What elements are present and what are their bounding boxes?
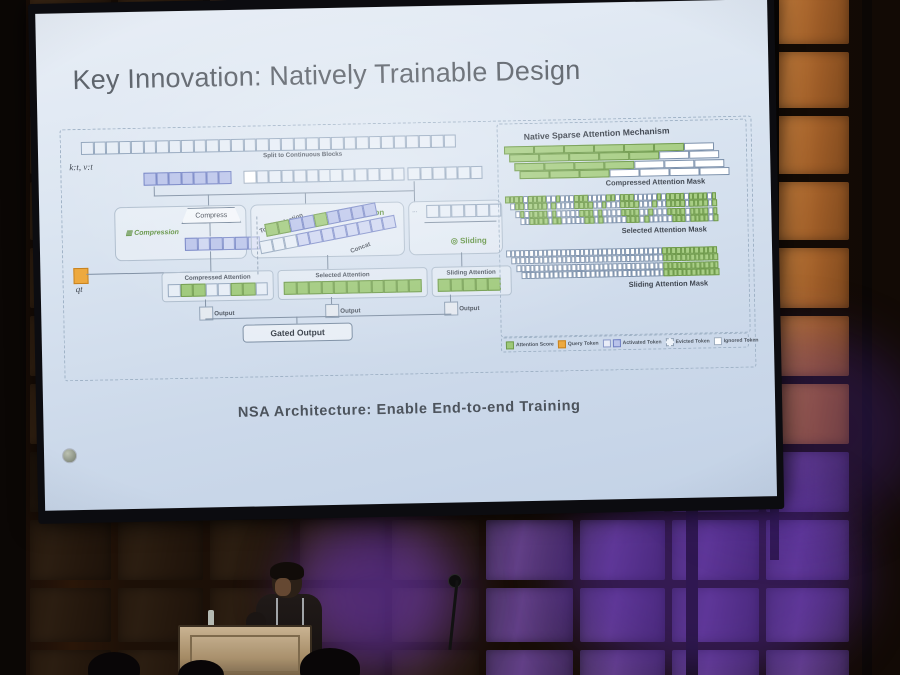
token-cell <box>156 172 169 185</box>
compressed-attention-row <box>168 282 268 297</box>
mask-cell <box>669 168 699 177</box>
block-2 <box>243 169 331 184</box>
token-cell <box>296 281 309 294</box>
wall-mullion <box>862 0 872 675</box>
projection-screen: Key Innovation: Natively Trainable Desig… <box>35 0 777 511</box>
token-cell <box>218 139 231 152</box>
mask-cell <box>713 214 718 221</box>
nsa-pipeline-diagram: Split to Continuous Blocks k:t, v:t <box>67 126 492 374</box>
output-label-selected: Output <box>340 307 360 314</box>
connector-out2 <box>331 297 332 304</box>
compress-op: Compress <box>181 207 241 224</box>
mask-cell <box>689 151 719 160</box>
token-cell <box>367 168 380 181</box>
mask-cell <box>713 254 718 261</box>
token-cell <box>185 238 198 251</box>
wall-panel <box>766 650 849 675</box>
token-cell <box>81 142 94 155</box>
token-cell <box>230 283 243 296</box>
mask-cell <box>514 162 544 171</box>
output-label-sliding: Output <box>459 305 479 312</box>
token-cell <box>143 172 156 185</box>
token-cell <box>193 171 206 184</box>
token-cell <box>306 137 319 150</box>
token-cell <box>381 136 394 149</box>
compression-icon: ▥ <box>126 230 135 237</box>
wall-panel <box>486 588 573 642</box>
presentation-slide: Key Innovation: Natively Trainable Desig… <box>35 0 777 511</box>
token-cell <box>362 202 377 217</box>
compression-branch-label: ▥ Compression <box>126 228 179 237</box>
legend-item: Ignored Token <box>714 336 759 345</box>
token-cell <box>406 135 419 148</box>
token-cell <box>381 215 396 230</box>
mask-cell <box>654 143 684 152</box>
sliding-window-row <box>426 204 501 219</box>
token-cell <box>409 279 422 292</box>
token-cell <box>438 279 451 292</box>
token-cell <box>281 170 294 183</box>
token-cell <box>354 168 367 181</box>
mask-cell <box>509 154 539 163</box>
token-cell <box>470 166 483 179</box>
slide-title: Key Innovation: Natively Trainable Desig… <box>72 55 581 96</box>
token-cell <box>256 170 269 183</box>
wall-mullion <box>0 0 26 675</box>
token-cell <box>431 135 444 148</box>
token-cell <box>309 281 322 294</box>
legend-item: Query Token <box>558 339 599 348</box>
right-panel-title: Native Sparse Attention Mechanism <box>524 125 670 141</box>
compressed-mask-label: Compressed Attention Mask <box>606 176 706 187</box>
mask-cell <box>713 246 718 253</box>
query-token-label: qt <box>76 284 83 294</box>
split-blocks-label: Split to Continuous Blocks <box>263 151 342 160</box>
wall-panel <box>300 520 385 580</box>
token-cell <box>181 140 194 153</box>
logo-watermark-icon <box>62 448 77 463</box>
token-cell <box>193 284 206 297</box>
mask-cell <box>712 200 717 207</box>
token-cell <box>407 167 420 180</box>
block-4 <box>407 166 482 181</box>
token-cell <box>488 278 501 291</box>
photo-scene: Key Innovation: Natively Trainable Desig… <box>0 0 900 675</box>
token-cell <box>384 280 397 293</box>
token-cell <box>379 168 392 181</box>
sliding-window-icon: ◎ <box>451 236 460 245</box>
token-cell <box>293 137 306 150</box>
token-cell <box>284 282 297 295</box>
legend-swatch <box>558 340 566 348</box>
token-cell <box>432 167 445 180</box>
token-cell <box>181 172 194 185</box>
compressed-kv-row <box>185 236 260 251</box>
token-cell <box>281 138 294 151</box>
legend-label: Activated Token <box>623 339 662 346</box>
mask-cell <box>684 142 714 151</box>
token-cell <box>131 141 144 154</box>
mask-cell <box>549 170 579 179</box>
wall-panel <box>30 588 111 642</box>
token-cell <box>235 237 248 250</box>
token-cell <box>475 278 488 291</box>
wall-panel <box>118 520 203 580</box>
token-cell <box>168 172 181 185</box>
legend-swatch <box>714 337 722 345</box>
sliding-attention-label: Sliding Attention <box>446 269 495 277</box>
token-cell <box>306 169 319 182</box>
presenter-face <box>275 578 291 596</box>
slide-caption: NSA Architecture: Enable End-to-end Trai… <box>43 394 775 425</box>
token-cell <box>222 237 235 250</box>
mask-cell <box>564 145 594 154</box>
connector-h1 <box>154 190 414 196</box>
mask-cell <box>569 153 599 162</box>
block-3 <box>329 167 404 182</box>
token-cell <box>393 135 406 148</box>
token-cell <box>268 170 281 183</box>
token-cell <box>206 171 219 184</box>
mask-cell <box>712 192 717 199</box>
connector-out3 <box>450 295 451 302</box>
mask-cell <box>629 152 659 161</box>
compressed-attention-label: Compressed Attention <box>184 274 250 282</box>
token-cell <box>205 283 218 296</box>
mask-cell <box>604 161 634 170</box>
token-cell <box>463 278 476 291</box>
mask-cell <box>539 154 569 163</box>
token-cell <box>464 204 477 217</box>
token-cell <box>368 136 381 149</box>
mask-cell <box>594 144 624 153</box>
token-cell <box>343 136 356 149</box>
sliding-attention-row <box>438 278 501 292</box>
token-cell <box>255 282 268 295</box>
legend-label: Evicted Token <box>676 338 710 345</box>
mask-cell <box>659 151 689 160</box>
connector-sld-att <box>461 252 462 266</box>
token-cell <box>476 204 489 217</box>
token-cell <box>206 139 219 152</box>
token-cell <box>218 283 231 296</box>
attention-mask-panel: Native Sparse Attention Mechanism Compre… <box>496 119 750 338</box>
mask-cell <box>504 146 534 155</box>
mask-cell <box>609 169 639 178</box>
token-cell <box>156 140 169 153</box>
connector-gated-v <box>296 317 297 324</box>
token-cell <box>210 237 223 250</box>
legend-item: Attention Score <box>506 340 554 349</box>
token-cell <box>218 171 231 184</box>
token-cell <box>106 141 119 154</box>
mask-cell <box>664 159 694 168</box>
wall-panel <box>392 650 479 675</box>
token-cell <box>445 166 458 179</box>
mask-cell <box>639 168 669 177</box>
token-cell <box>168 284 181 297</box>
presenter-hair <box>270 562 304 580</box>
token-cell <box>346 280 359 293</box>
token-cell <box>231 139 244 152</box>
legend-label: Ignored Token <box>724 337 759 344</box>
token-cell <box>168 140 181 153</box>
token-cell <box>197 237 210 250</box>
token-cell <box>243 138 256 151</box>
figure-container: Split to Continuous Blocks k:t, v:t <box>60 116 757 382</box>
token-cell <box>443 134 456 147</box>
legend-swatch <box>506 341 514 349</box>
token-cell <box>418 135 431 148</box>
wall-panel <box>580 520 665 580</box>
token-cell <box>371 280 384 293</box>
connector-v-slide <box>414 181 415 202</box>
token-cell <box>396 279 409 292</box>
sliding-ellipsis: ⋯ <box>412 209 417 215</box>
token-cell <box>334 281 347 294</box>
token-cell <box>356 136 369 149</box>
token-cell <box>256 138 269 151</box>
legend-item: Evicted Token <box>665 337 709 346</box>
mask-cell <box>634 160 664 169</box>
token-cell <box>93 141 106 154</box>
legend-swatch <box>603 339 611 347</box>
legend-label: Query Token <box>568 340 599 347</box>
wall-panel <box>486 520 573 580</box>
wall-panel <box>392 588 479 642</box>
query-token <box>73 268 88 284</box>
token-cell <box>426 205 439 218</box>
token-cell <box>193 139 206 152</box>
token-cell <box>450 278 463 291</box>
token-cell <box>268 138 281 151</box>
token-cell <box>143 140 156 153</box>
token-cell <box>451 204 464 217</box>
legend-item: Activated Token <box>603 338 662 347</box>
selected-attention-label: Selected Attention <box>315 271 369 279</box>
mask-cell <box>714 268 719 275</box>
mask-cell <box>599 152 629 161</box>
mask-cell <box>534 145 564 154</box>
mask-cell <box>624 143 654 152</box>
selected-attention-row <box>284 279 422 295</box>
mask-cell <box>544 162 574 171</box>
token-cell <box>329 169 342 182</box>
token-cell <box>331 137 344 150</box>
wall-panel <box>580 650 665 675</box>
sliding-mask-label: Sliding Attention Mask <box>629 278 709 289</box>
mask-cell <box>714 261 719 268</box>
token-cell <box>420 167 433 180</box>
mask-cell <box>579 170 609 179</box>
legend-swatch <box>665 338 673 346</box>
token-cell <box>392 167 405 180</box>
projection-screen-frame: Key Innovation: Natively Trainable Desig… <box>28 0 784 524</box>
selected-mask-label: Selected Attention Mask <box>622 224 707 235</box>
token-cell <box>321 281 334 294</box>
legend-label: Attention Score <box>516 341 554 348</box>
mask-cell <box>519 171 549 180</box>
wall-panel <box>766 588 849 642</box>
token-cell <box>243 282 256 295</box>
output-label-compressed: Output <box>214 310 234 317</box>
mask-cell <box>713 207 718 214</box>
token-cell <box>243 170 256 183</box>
token-cell <box>457 166 470 179</box>
token-cell <box>318 137 331 150</box>
wall-panel <box>486 650 573 675</box>
legend-swatch <box>613 339 621 347</box>
token-cell <box>342 168 355 181</box>
sliding-branch-label: ◎ Sliding <box>451 236 487 246</box>
token-cell <box>293 169 306 182</box>
connector-out1 <box>205 299 206 306</box>
kv-label: k:t, v:t <box>69 162 93 172</box>
mask-cell <box>699 167 729 176</box>
token-cell <box>180 284 193 297</box>
gated-output-box: Gated Output <box>242 323 352 343</box>
block-1 <box>143 171 231 186</box>
token-cell <box>118 141 131 154</box>
wall-panel <box>580 588 665 642</box>
wall-panel <box>392 520 479 580</box>
wall-panel <box>30 520 111 580</box>
mask-cell <box>574 161 604 170</box>
mask-cell <box>694 159 724 168</box>
token-cell <box>359 280 372 293</box>
connector-sel-att <box>327 255 328 269</box>
token-cell <box>439 205 452 218</box>
